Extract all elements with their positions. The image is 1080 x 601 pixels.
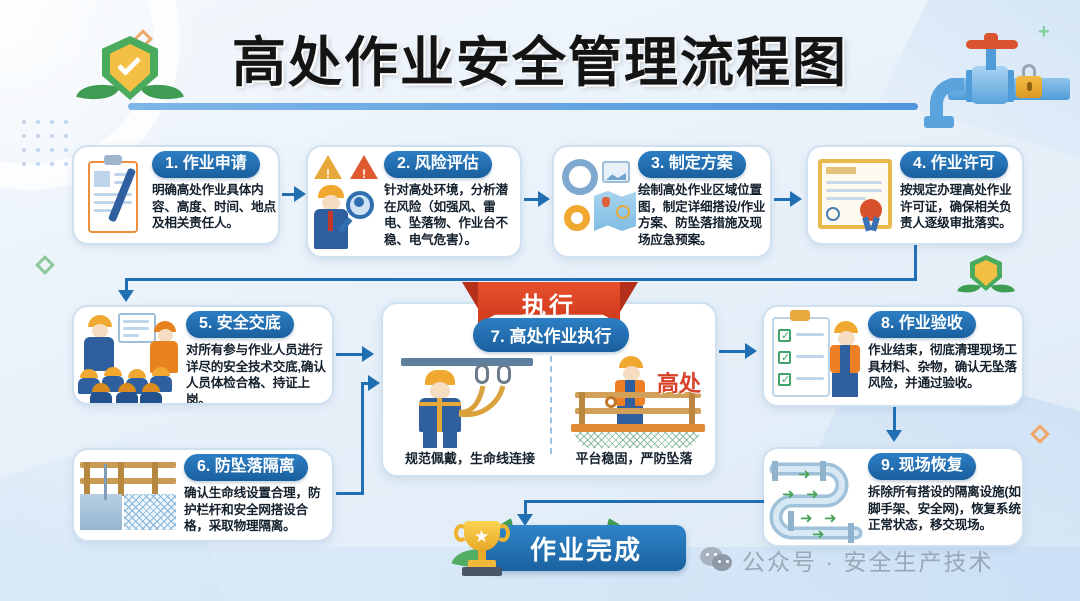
step-desc-8: 作业结束，彻底清理现场工具材料、杂物，确认无坠落风险，并通过验收。 [868,342,1022,392]
step-title-9: 9. 现场恢复 [868,453,976,480]
completion-banner-group[interactable]: 作业完成 ★ [424,521,694,577]
execution-caption-left: 规范佩戴，生命线连接 [391,448,549,467]
step-card-5[interactable]: 5. 安全交底 对所有参与作业人员进行详尽的安全技术交底,确认人员体检合格、持证… [72,305,334,405]
completion-label: 作业完成 [486,525,686,571]
execution-card[interactable]: 7. 高处作业执行 [381,302,717,477]
arrowhead-9-to-completion [517,514,533,526]
step-title-2: 2. 风险评估 [384,151,492,178]
checklist-worker-icon: ✓ ✓ ✓ [764,307,868,405]
step-title-6: 6. 防坠落隔离 [184,454,308,481]
step-desc-2: 针对高处环境，分析潜在风险（如强风、雷电、坠落物、作业台不稳、电气危害）。 [384,182,520,249]
briefing-crowd-icon [74,307,186,403]
step-desc-1: 明确高处作业具体内容、高度、时间、地点及相关责任人。 [152,182,278,232]
step-card-9[interactable]: ➜ ➜ ➜ ➜ ➜ ➜ 9. 现场恢复 拆除所有搭设的隔离设施(如脚手架、安全网… [762,447,1024,547]
flowchart-canvas: + 高处作业安全管理流程图 [0,0,1080,601]
arrowhead-7-to-8 [745,343,757,359]
shield-decoration-small [966,253,1006,299]
arrowhead-2-to-3 [538,191,550,207]
step-card-1[interactable]: 1. 作业申请 明确高处作业具体内容、高度、时间、地点及相关责任人。 [72,145,280,245]
arrowhead-6-to-7 [368,375,380,391]
step-card-6[interactable]: 6. 防坠落隔离 确认生命线设置合理，防护栏杆和安全网搭设合格，采取物理隔离。 [72,448,334,542]
gears-map-icon [554,147,638,256]
harness-lifeline-icon [397,356,547,450]
header: 高处作业安全管理流程图 [0,0,1080,120]
connector-6-right [336,492,364,495]
watermark: 公众号 · 安全生产技术 [700,543,993,577]
step-desc-3: 绘制高处作业区域位置图，制定详细搭设/作业方案、防坠落措施及现场应急预案。 [638,182,770,249]
arrowhead-4-to-5 [118,290,134,302]
step-desc-9: 拆除所有搭设的隔离设施(如脚手架、安全网)，恢复系统正常状态，移交现场。 [868,484,1022,534]
shield-check-icon [94,32,166,110]
step-card-8[interactable]: ✓ ✓ ✓ 8. 作业验收 作业结束，彻底清理现场工具材料、杂物，确认无坠落风险… [762,305,1024,407]
step-card-4[interactable]: 4. 作业许可 按规定办理高处作业许可证，确保相关负责人逐级审批落实。 [806,145,1024,245]
execution-highlight: 高处 [657,366,701,398]
certificate-icon [808,147,900,243]
step-desc-6: 确认生命线设置合理，防护栏杆和安全网搭设合格，采取物理隔离。 [184,485,332,535]
step-desc-5: 对所有参与作业人员进行详尽的安全技术交底,确认人员体检合格、持证上岗。 [186,342,332,405]
wechat-icon [700,547,734,573]
step-title-8: 8. 作业验收 [868,311,976,338]
connector-6-up [361,382,364,495]
warning-magnifier-icon: ! ! [308,147,384,256]
step-title-5: 5. 安全交底 [186,311,294,338]
step-title-4: 4. 作业许可 [900,151,1008,178]
connector-4-down [914,245,917,280]
step-card-2[interactable]: ! ! 2. 风险评估 针对高处环境，分析潜在风险（如强风、雷电、坠落物、作业台… [306,145,522,258]
guardrail-safety-net-icon [74,450,184,540]
clipboard-pen-icon [74,147,152,243]
watermark-text: 公众号 · 安全生产技术 [742,543,993,577]
title-underline [128,103,918,110]
padlock-icon [1016,74,1042,98]
connector-4-left [125,278,917,281]
execution-divider [550,356,552,454]
step-title-1: 1. 作业申请 [152,151,260,178]
trophy-icon: ★ [452,519,512,579]
arrowhead-3-to-4 [790,191,802,207]
pipeline-restore-icon: ➜ ➜ ➜ ➜ ➜ ➜ [764,449,868,545]
arrowhead-8-to-9 [886,430,902,442]
arrowhead-1-to-2 [294,186,306,202]
diamond-decoration-3 [1030,424,1050,444]
execution-title: 7. 高处作业执行 [473,318,630,352]
diamond-decoration-2 [35,255,55,275]
step-card-3[interactable]: 3. 制定方案 绘制高处作业区域位置图，制定详细搭设/作业方案、防坠落措施及现场… [552,145,772,258]
execution-caption-right: 平台稳固，严防坠落 [555,448,713,467]
pipe-valve-lock-icon [920,30,1070,125]
arrowhead-5-to-7 [362,346,374,362]
step-desc-4: 按规定办理高处作业许可证，确保相关负责人逐级审批落实。 [900,182,1022,232]
step-title-3: 3. 制定方案 [638,151,746,178]
connector-9-left [524,500,764,503]
